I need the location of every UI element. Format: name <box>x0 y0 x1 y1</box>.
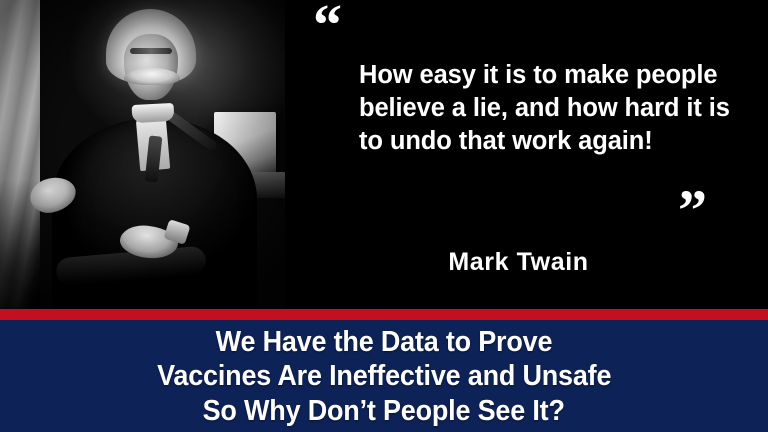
closing-quote-icon: ” <box>678 182 705 240</box>
headline-line-2: Vaccines Are Ineffective and Unsafe <box>157 359 611 393</box>
headline-line-3: So Why Don’t People See It? <box>203 394 565 428</box>
quote-panel: “ How easy it is to make people believe … <box>285 0 768 309</box>
mark-twain-portrait-photo <box>0 0 285 309</box>
quote-attribution: Mark Twain <box>285 248 768 277</box>
red-divider-band <box>0 309 768 320</box>
opening-quote-icon: “ <box>313 0 340 54</box>
quote-card: “ How easy it is to make people believe … <box>0 0 768 432</box>
quote-text: How easy it is to make people believe a … <box>359 59 759 158</box>
headline-banner: We Have the Data to Prove Vaccines Are I… <box>0 320 768 432</box>
photo-vignette <box>0 0 285 309</box>
upper-section: “ How easy it is to make people believe … <box>0 0 768 309</box>
headline-line-1: We Have the Data to Prove <box>216 325 553 359</box>
